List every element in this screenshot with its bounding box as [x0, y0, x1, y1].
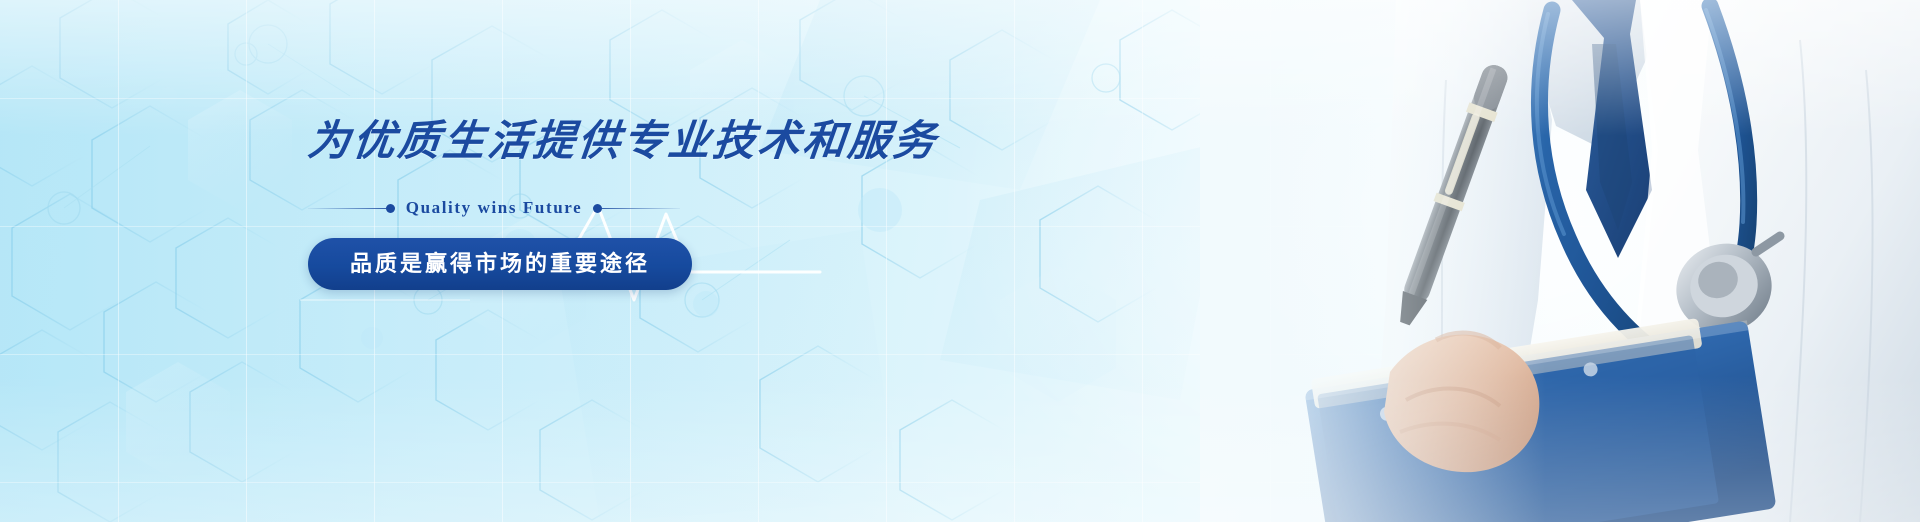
tagline-rule-right: [602, 208, 680, 209]
banner-tagline: Quality wins Future: [395, 198, 594, 218]
tagline-row: Quality wins Future: [308, 198, 680, 218]
tagline-bullet-right-icon: [593, 204, 602, 213]
banner-headline: 为优质生活提供专业技术和服务: [306, 118, 1031, 164]
tagline-bullet-left-icon: [386, 204, 395, 213]
tagline-rule-left: [308, 208, 386, 209]
hero-banner: 为优质生活提供专业技术和服务 Quality wins Future 品质是赢得…: [0, 0, 1920, 522]
banner-content: 为优质生活提供专业技术和服务 Quality wins Future 品质是赢得…: [308, 118, 1028, 290]
slogan-pill-button[interactable]: 品质是赢得市场的重要途径: [308, 238, 692, 290]
